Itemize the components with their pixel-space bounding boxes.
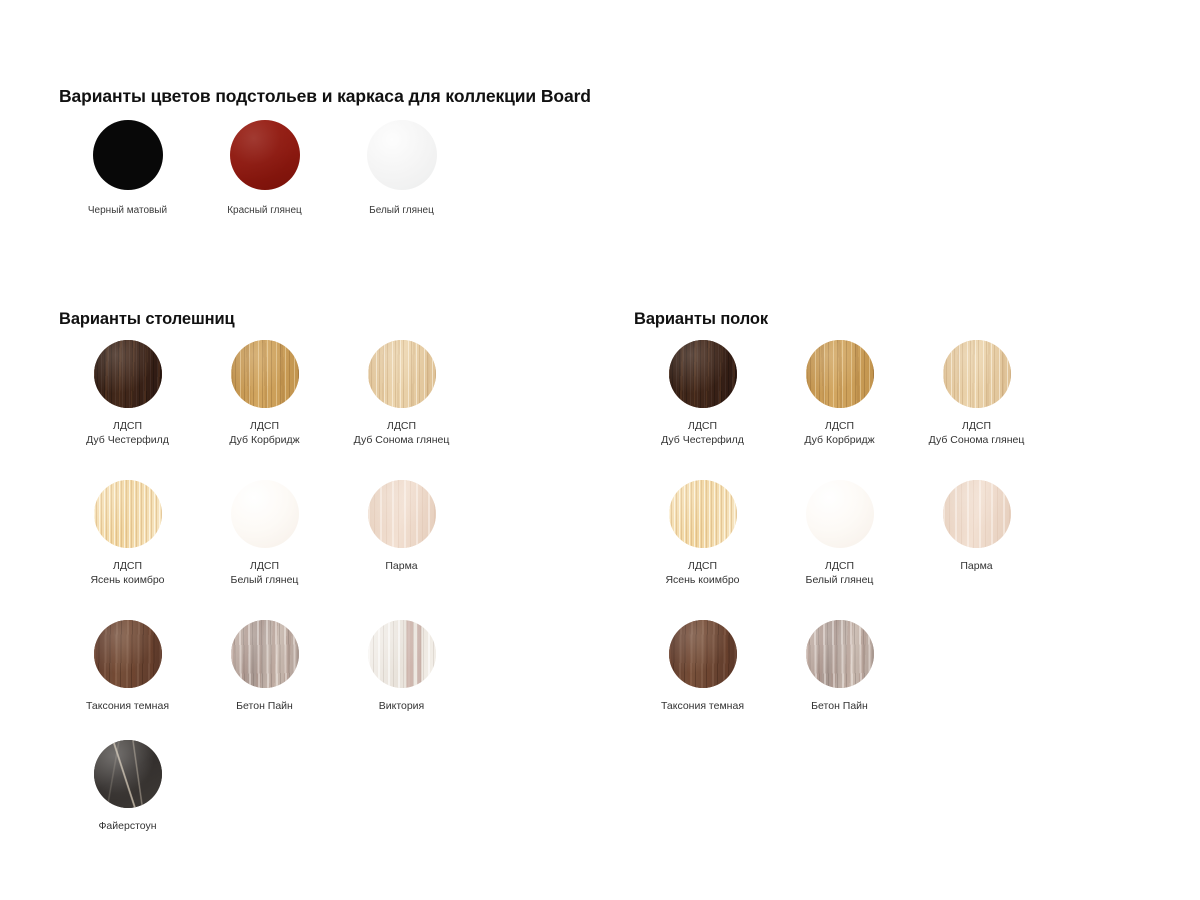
- swatch-disc[interactable]: [367, 120, 437, 190]
- swatch-disc[interactable]: [368, 620, 436, 688]
- tabletop-swatch-grid: ЛДСП Дуб ЧестерфилдЛДСП Дуб КорбриджЛДСП…: [59, 340, 470, 860]
- swatch-texture: [669, 620, 737, 688]
- swatch-texture: [94, 620, 162, 688]
- swatch-item[interactable]: Бетон Пайн: [196, 620, 333, 740]
- shelf-swatch-grid: ЛДСП Дуб ЧестерфилдЛДСП Дуб КорбриджЛДСП…: [634, 340, 1045, 740]
- swatch-item[interactable]: ЛДСП Дуб Корбридж: [196, 340, 333, 480]
- frame-color-swatch-grid: Черный матовыйКрасный глянецБелый глянец: [59, 120, 470, 225]
- swatch-disc[interactable]: [93, 120, 163, 190]
- swatch-label: Файерстоун: [98, 819, 156, 833]
- swatch-texture: [368, 340, 436, 408]
- swatch-item[interactable]: ЛДСП Дуб Честерфилд: [59, 340, 196, 480]
- swatch-disc[interactable]: [669, 620, 737, 688]
- swatch-texture: [230, 120, 300, 190]
- swatch-label: Бетон Пайн: [811, 699, 868, 713]
- swatch-texture: [231, 340, 299, 408]
- color-options-page: Варианты цветов подстольев и каркаса для…: [0, 0, 1200, 900]
- swatch-disc[interactable]: [94, 740, 162, 808]
- swatch-disc[interactable]: [94, 480, 162, 548]
- swatch-label: Бетон Пайн: [236, 699, 293, 713]
- swatch-label: ЛДСП Дуб Сонома глянец: [929, 419, 1025, 447]
- swatch-item[interactable]: ЛДСП Дуб Сонома глянец: [908, 340, 1045, 480]
- swatch-disc[interactable]: [368, 340, 436, 408]
- swatch-item[interactable]: Черный матовый: [59, 120, 196, 225]
- swatch-item[interactable]: ЛДСП Белый глянец: [196, 480, 333, 620]
- swatch-texture: [94, 340, 162, 408]
- swatch-label: Таксония темная: [661, 699, 744, 713]
- swatch-item[interactable]: Парма: [908, 480, 1045, 620]
- swatch-label: Парма: [385, 559, 417, 573]
- section-title-shelves: Варианты полок: [634, 310, 768, 329]
- swatch-texture: [806, 340, 874, 408]
- swatch-item[interactable]: Таксония темная: [634, 620, 771, 740]
- swatch-item[interactable]: Белый глянец: [333, 120, 470, 225]
- swatch-label: Парма: [960, 559, 992, 573]
- swatch-label: ЛДСП Белый глянец: [231, 559, 299, 587]
- swatch-texture: [368, 480, 436, 548]
- swatch-label: ЛДСП Дуб Сонома глянец: [354, 419, 450, 447]
- swatch-label: ЛДСП Ясень коимбро: [665, 559, 739, 587]
- swatch-item[interactable]: Файерстоун: [59, 740, 196, 860]
- swatch-item[interactable]: Бетон Пайн: [771, 620, 908, 740]
- swatch-item[interactable]: ЛДСП Дуб Честерфилд: [634, 340, 771, 480]
- swatch-item[interactable]: Виктория: [333, 620, 470, 740]
- swatch-label: ЛДСП Дуб Честерфилд: [661, 419, 744, 447]
- swatch-label: Виктория: [379, 699, 425, 713]
- swatch-disc[interactable]: [231, 480, 299, 548]
- swatch-texture: [367, 120, 437, 190]
- swatch-item[interactable]: ЛДСП Белый глянец: [771, 480, 908, 620]
- swatch-disc[interactable]: [669, 480, 737, 548]
- page-title: Варианты цветов подстольев и каркаса для…: [59, 86, 591, 107]
- swatch-label: ЛДСП Ясень коимбро: [90, 559, 164, 587]
- swatch-item[interactable]: ЛДСП Дуб Корбридж: [771, 340, 908, 480]
- swatch-label: Черный матовый: [88, 204, 167, 218]
- swatch-label: ЛДСП Дуб Корбридж: [229, 419, 299, 447]
- swatch-disc[interactable]: [806, 620, 874, 688]
- swatch-disc[interactable]: [231, 620, 299, 688]
- swatch-disc[interactable]: [943, 340, 1011, 408]
- swatch-label: ЛДСП Дуб Честерфилд: [86, 419, 169, 447]
- swatch-disc[interactable]: [230, 120, 300, 190]
- swatch-item[interactable]: ЛДСП Дуб Сонома глянец: [333, 340, 470, 480]
- swatch-disc[interactable]: [943, 480, 1011, 548]
- section-title-tabletops: Варианты столешниц: [59, 310, 235, 329]
- swatch-texture: [93, 120, 163, 190]
- swatch-disc[interactable]: [806, 340, 874, 408]
- swatch-texture: [231, 480, 299, 548]
- swatch-label: ЛДСП Белый глянец: [806, 559, 874, 587]
- swatch-texture: [368, 620, 436, 688]
- swatch-texture: [943, 480, 1011, 548]
- swatch-disc[interactable]: [806, 480, 874, 548]
- swatch-disc[interactable]: [94, 620, 162, 688]
- swatch-disc[interactable]: [231, 340, 299, 408]
- swatch-texture: [943, 340, 1011, 408]
- swatch-disc[interactable]: [94, 340, 162, 408]
- swatch-item[interactable]: ЛДСП Ясень коимбро: [634, 480, 771, 620]
- swatch-item[interactable]: Таксония темная: [59, 620, 196, 740]
- swatch-disc[interactable]: [669, 340, 737, 408]
- swatch-texture: [231, 620, 299, 688]
- swatch-texture: [94, 740, 162, 808]
- swatch-item[interactable]: ЛДСП Ясень коимбро: [59, 480, 196, 620]
- swatch-label: Таксония темная: [86, 699, 169, 713]
- swatch-texture: [669, 340, 737, 408]
- swatch-label: Белый глянец: [369, 204, 434, 218]
- swatch-texture: [94, 480, 162, 548]
- swatch-item[interactable]: Красный глянец: [196, 120, 333, 225]
- swatch-label: ЛДСП Дуб Корбридж: [804, 419, 874, 447]
- swatch-texture: [669, 480, 737, 548]
- swatch-texture: [806, 620, 874, 688]
- swatch-item[interactable]: Парма: [333, 480, 470, 620]
- swatch-label: Красный глянец: [227, 204, 302, 218]
- swatch-disc[interactable]: [368, 480, 436, 548]
- swatch-texture: [806, 480, 874, 548]
